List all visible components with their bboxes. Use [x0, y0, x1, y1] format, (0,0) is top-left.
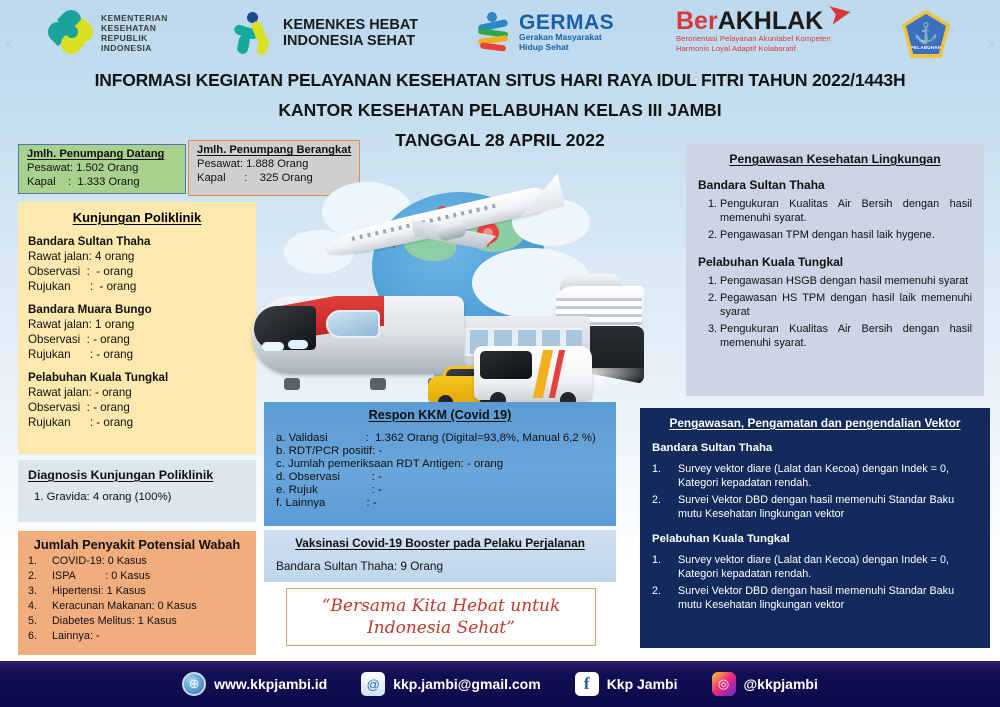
footer-instagram[interactable]: ◎ @kkpjambi	[712, 672, 818, 696]
item-number: 2.	[698, 292, 720, 320]
list-item: 2.Pegawasan HS TPM dengan hasil laik mem…	[698, 292, 972, 320]
footer-instagram-text[interactable]: @kkpjambi	[744, 676, 818, 692]
environmental-health-box: Pengawasan Kesehatan Lingkungan Bandara …	[686, 144, 984, 396]
logo-kemenkes-ri: KEMENTERIAN KESEHATAN REPUBLIK INDONESIA	[48, 10, 168, 56]
berakhlak-sub-line: Harmonis Loyal Adaptif Kolaboratif	[676, 44, 831, 54]
environmental-section-name: Pelabuhan Kuala Tungkal	[698, 255, 972, 269]
diagnosis-item: 1. Gravida: 4 orang (100%)	[28, 491, 246, 503]
respon-kkm-line: d. Observasi : -	[276, 471, 604, 483]
contact-footer-bar: ⊕ www.kkpjambi.id @ kkp.jambi@gmail.com …	[0, 661, 1000, 707]
diagnosis-title: Diagnosis Kunjungan Poliklinik	[28, 468, 246, 482]
kemenkes-ri-icon	[48, 10, 94, 56]
poliklinik-line: Rujukan : - orang	[28, 416, 246, 429]
poliklinik-group-name: Pelabuhan Kuala Tungkal	[28, 371, 246, 384]
list-item: 5.Diabetes Melitus: 1 Kasus	[28, 615, 246, 627]
berakhlak-suffix: AKHLAK	[718, 7, 824, 35]
slogan-line-2: Indonesia Sehat”	[322, 617, 561, 639]
item-number: 3.	[698, 323, 720, 351]
facebook-icon: f	[575, 672, 599, 696]
list-item: 6.Lainnya: -	[28, 630, 246, 642]
item-number: 2.	[652, 584, 678, 612]
header-logo-band: KEMENTERIAN KESEHATAN REPUBLIK INDONESIA…	[0, 0, 1000, 68]
respon-kkm-box: Respon KKM (Covid 19) a. Validasi : 1.36…	[264, 402, 616, 526]
next-slide-chevron-icon[interactable]: ›	[985, 28, 996, 58]
logo-line: INDONESIA	[101, 43, 168, 53]
potential-outbreak-box: Jumlah Penyakit Potensial Wabah 1.COVID-…	[18, 531, 256, 655]
poster-title: INFORMASI KEGIATAN PELAYANAN KESEHATAN S…	[0, 70, 1000, 151]
berakhlak-title: BerAKHLAK ➤	[676, 10, 831, 34]
slogan-text: “Bersama Kita Hebat untuk Indonesia Seha…	[322, 595, 561, 639]
list-item: 1.Survey vektor diare (Lalat dan Kecoa) …	[652, 553, 978, 581]
poliklinik-line: Rawat jalan: 4 orang	[28, 250, 246, 263]
bus-windshield	[480, 351, 532, 379]
list-item: 2.Pengawasan TPM dengan hasil laik hygen…	[698, 229, 972, 243]
poliklinik-line: Observasi : - orang	[28, 333, 246, 346]
germas-wordmark: GERMAS Gerakan Masyarakat Hidup Sehat	[519, 13, 614, 52]
list-item: 3.Pengukuran Kualitas Air Bersih dengan …	[698, 323, 972, 351]
footer-facebook-text[interactable]: Kkp Jambi	[607, 676, 678, 692]
list-item: 4.Keracunan Makanan: 0 Kasus	[28, 600, 246, 612]
footer-email-text[interactable]: kkp.jambi@gmail.com	[393, 676, 540, 692]
item-number: 2.	[28, 570, 52, 582]
item-number: 4.	[28, 600, 52, 612]
item-number: 1.	[698, 275, 720, 289]
poliklinik-line: Rujukan : - orang	[28, 280, 246, 293]
pelabuhan-emblem-icon: ⚓ PELABUHAN	[902, 10, 950, 58]
vector-list: 1.Survey vektor diare (Lalat dan Kecoa) …	[652, 462, 978, 521]
item-text: Pegawasan HS TPM dengan hasil laik memen…	[720, 292, 972, 320]
item-text: Diabetes Melitus: 1 Kasus	[52, 615, 177, 627]
title-line-2: KANTOR KESEHATAN PELABUHAN KELAS III JAM…	[0, 100, 1000, 121]
logo-line: KEMENKES HEBAT	[283, 17, 418, 33]
train-headlight	[288, 340, 308, 349]
passenger-arrival-ship: Kapal : 1.333 Orang	[27, 176, 179, 188]
potential-outbreak-list: 1.COVID-19: 0 Kasus 2.ISPA : 0 Kasus 3.H…	[28, 555, 246, 642]
logo-germas: GERMAS Gerakan Masyarakat Hidup Sehat	[476, 12, 614, 54]
item-number: 1.	[28, 555, 52, 567]
environmental-section-name: Bandara Sultan Thaha	[698, 178, 972, 192]
item-text: Keracunan Makanan: 0 Kasus	[52, 600, 197, 612]
prev-slide-chevron-icon[interactable]: ‹	[4, 28, 15, 58]
poliklinik-line: Rujukan : - orang	[28, 348, 246, 361]
vector-control-title: Pengawasan, Pengamatan dan pengendalian …	[652, 416, 978, 430]
passenger-departure-title: Jmlh. Penumpang Berangkat	[197, 144, 353, 156]
train-wheel	[370, 378, 386, 390]
passenger-arrival-plane: Pesawat: 1.502 Orang	[27, 162, 179, 174]
bus-icon	[474, 346, 596, 408]
vector-list: 1.Survey vektor diare (Lalat dan Kecoa) …	[652, 553, 978, 612]
environmental-list: 1.Pengawasan HSGB dengan hasil memenuhi …	[698, 275, 972, 351]
logo-line: REPUBLIK	[101, 33, 168, 43]
item-text: Survei Vektor DBD dengan hasil memenuhi …	[678, 584, 978, 612]
item-text: Pengawasan HSGB dengan hasil memenuhi sy…	[720, 275, 972, 289]
item-text: Pengawasan TPM dengan hasil laik hygene.	[720, 229, 972, 243]
logo-line: KEMENTERIAN	[101, 13, 168, 23]
poliklinik-line: Observasi : - orang	[28, 401, 246, 414]
vaccination-title: Vaksinasi Covid-19 Booster pada Pelaku P…	[276, 536, 604, 550]
item-text: COVID-19: 0 Kasus	[52, 555, 147, 567]
item-number: 5.	[28, 615, 52, 627]
diagnosis-box: Diagnosis Kunjungan Poliklinik 1. Gravid…	[18, 460, 256, 522]
slogan-line-1: “Bersama Kita Hebat untuk	[322, 595, 561, 617]
list-item: 1.Pengukuran Kualitas Air Bersih dengan …	[698, 198, 972, 226]
environmental-list: 1.Pengukuran Kualitas Air Bersih dengan …	[698, 198, 972, 243]
item-text: Pengukuran Kualitas Air Bersih dengan ha…	[720, 198, 972, 226]
germas-title: GERMAS	[519, 13, 614, 33]
germas-sub-line: Hidup Sehat	[519, 43, 614, 53]
kemenkes-ri-wordmark: KEMENTERIAN KESEHATAN REPUBLIK INDONESIA	[101, 13, 168, 53]
footer-website-text[interactable]: www.kkpjambi.id	[214, 676, 327, 692]
list-item: 1.Survey vektor diare (Lalat dan Kecoa) …	[652, 462, 978, 490]
potential-outbreak-title: Jumlah Penyakit Potensial Wabah	[28, 537, 246, 552]
list-item: 1.COVID-19: 0 Kasus	[28, 555, 246, 567]
airplane-icon	[314, 174, 564, 260]
list-item: 2.Survei Vektor DBD dengan hasil memenuh…	[652, 493, 978, 521]
kemenkes-hebat-icon	[232, 11, 276, 55]
infographic-poster: KEMENTERIAN KESEHATAN REPUBLIK INDONESIA…	[0, 0, 1000, 707]
item-text: Pengukuran Kualitas Air Bersih dengan ha…	[720, 323, 972, 351]
email-icon: @	[361, 672, 385, 696]
item-number: 1.	[652, 553, 678, 581]
logo-line: KESEHATAN	[101, 23, 168, 33]
environmental-health-title: Pengawasan Kesehatan Lingkungan	[698, 152, 972, 166]
item-number: 1.	[652, 462, 678, 490]
logo-berakhlak: BerAKHLAK ➤ Berorientasi Pelayanan Akunt…	[676, 10, 831, 53]
respon-kkm-line: b. RDT/PCR positif: -	[276, 445, 604, 457]
item-text: Lainnya: -	[52, 630, 99, 642]
poliklinik-title: Kunjungan Poliklinik	[28, 210, 246, 225]
vaccination-box: Vaksinasi Covid-19 Booster pada Pelaku P…	[264, 530, 616, 582]
item-number: 3.	[28, 585, 52, 597]
list-item: 2.ISPA : 0 Kasus	[28, 570, 246, 582]
berakhlak-chevron-icon: ➤	[827, 0, 853, 27]
train-headlight	[262, 342, 284, 351]
respon-kkm-line: a. Validasi : 1.362 Orang (Digital=93,8%…	[276, 432, 604, 444]
respon-kkm-line: c. Jumlah pemeriksaan RDT Antigen: - ora…	[276, 458, 604, 470]
transport-illustration	[262, 168, 640, 406]
title-line-1: INFORMASI KEGIATAN PELAYANAN KESEHATAN S…	[0, 70, 1000, 91]
list-item: 3.Hipertensi: 1 Kasus	[28, 585, 246, 597]
item-number: 2.	[698, 229, 720, 243]
germas-icon	[476, 12, 512, 54]
footer-facebook[interactable]: f Kkp Jambi	[575, 672, 678, 696]
item-text: Hipertensi: 1 Kasus	[52, 585, 146, 597]
vaccination-line: Bandara Sultan Thaha: 9 Orang	[276, 559, 604, 573]
respon-kkm-line: f. Lainnya : -	[276, 497, 604, 509]
kemenkes-hebat-wordmark: KEMENKES HEBAT INDONESIA SEHAT	[283, 17, 418, 49]
item-text: Survey vektor diare (Lalat dan Kecoa) de…	[678, 462, 978, 490]
passenger-arrival-box: Jmlh. Penumpang Datang Pesawat: 1.502 Or…	[18, 144, 186, 194]
pelabuhan-emblem-inner: ⚓ PELABUHAN	[906, 14, 946, 54]
list-item: 2.Survei Vektor DBD dengan hasil memenuh…	[652, 584, 978, 612]
item-text: Survey vektor diare (Lalat dan Kecoa) de…	[678, 553, 978, 581]
poliklinik-visits-box: Kunjungan Poliklinik Bandara Sultan Thah…	[18, 202, 256, 454]
train-wheel	[284, 378, 300, 390]
item-text: ISPA : 0 Kasus	[52, 570, 150, 582]
train-windshield	[326, 310, 380, 338]
anchor-icon: ⚓	[914, 24, 939, 44]
footer-email[interactable]: @ kkp.jambi@gmail.com	[361, 672, 540, 696]
poliklinik-line: Observasi : - orang	[28, 265, 246, 278]
list-item: 1.Pengawasan HSGB dengan hasil memenuhi …	[698, 275, 972, 289]
berakhlak-sub-line: Berorientasi Pelayanan Akuntabel Kompete…	[676, 34, 831, 44]
respon-kkm-line: e. Rujuk : -	[276, 484, 604, 496]
item-text: Survei Vektor DBD dengan hasil memenuhi …	[678, 493, 978, 521]
item-number: 1.	[698, 198, 720, 226]
instagram-icon: ◎	[712, 672, 736, 696]
vector-control-box: Pengawasan, Pengamatan dan pengendalian …	[640, 408, 990, 648]
slogan-box: “Bersama Kita Hebat untuk Indonesia Seha…	[286, 588, 596, 646]
poliklinik-group-name: Bandara Muara Bungo	[28, 303, 246, 316]
pelabuhan-emblem-label: PELABUHAN	[911, 45, 942, 54]
item-number: 2.	[652, 493, 678, 521]
airplane-fuselage	[324, 185, 550, 261]
vector-section-name: Pelabuhan Kuala Tungkal	[652, 533, 978, 545]
respon-kkm-title: Respon KKM (Covid 19)	[276, 408, 604, 422]
logo-pelabuhan: ⚓ PELABUHAN	[902, 10, 950, 58]
footer-website[interactable]: ⊕ www.kkpjambi.id	[182, 672, 327, 696]
poliklinik-group-name: Bandara Sultan Thaha	[28, 235, 246, 248]
logo-line: INDONESIA SEHAT	[283, 33, 418, 49]
vector-section-name: Bandara Sultan Thaha	[652, 442, 978, 454]
poliklinik-line: Rawat jalan: 1 orang	[28, 318, 246, 331]
berakhlak-prefix: Ber	[676, 7, 718, 35]
logo-kemenkes-hebat: KEMENKES HEBAT INDONESIA SEHAT	[232, 11, 418, 55]
berakhlak-wordmark: BerAKHLAK ➤ Berorientasi Pelayanan Akunt…	[676, 10, 831, 53]
passenger-arrival-title: Jmlh. Penumpang Datang	[27, 148, 179, 160]
globe-icon: ⊕	[182, 672, 206, 696]
poliklinik-line: Rawat jalan: - orang	[28, 386, 246, 399]
item-number: 6.	[28, 630, 52, 642]
